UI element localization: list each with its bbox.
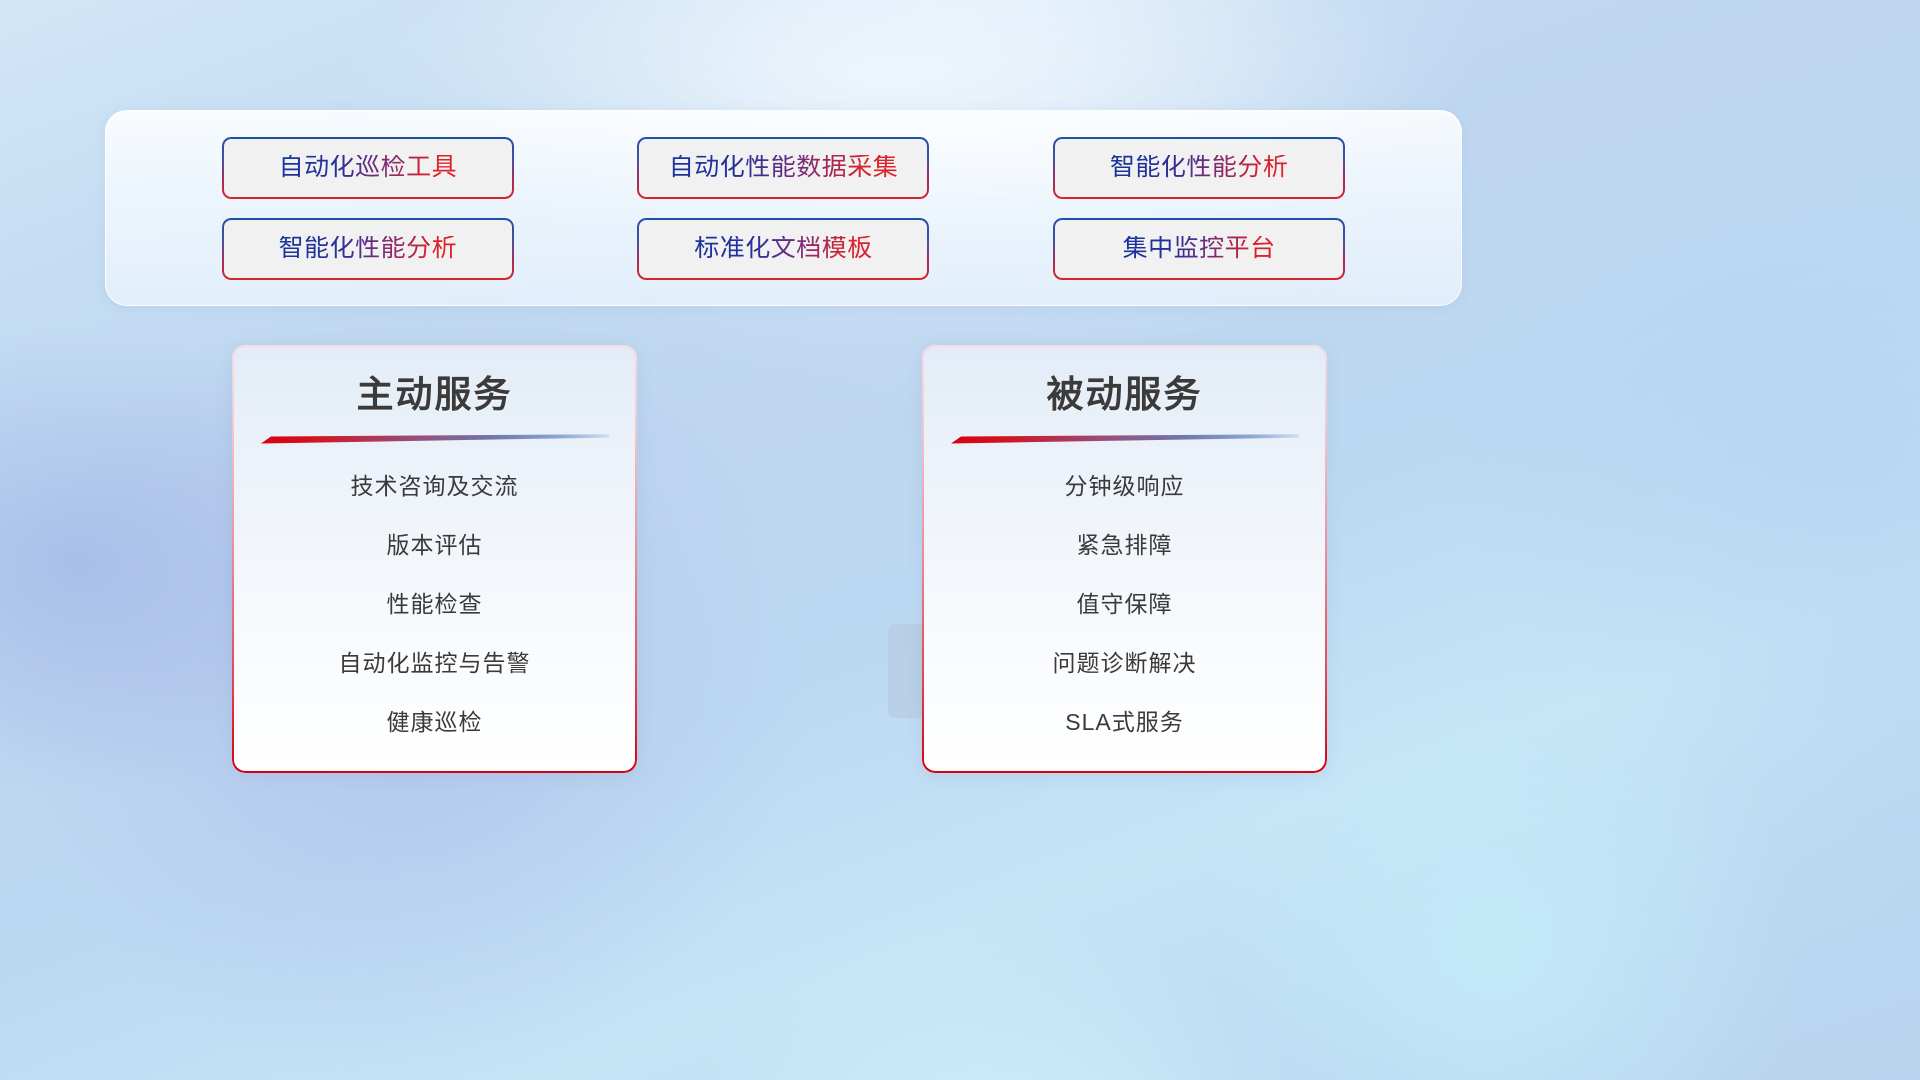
capability-pill-2[interactable]: 自动化性能数据采集 [637,137,929,199]
proactive-service-card: 主动服务 技术咨询及交流 版本评估 性能检查 自动化监控与告警 健康巡检 [232,345,637,773]
capability-pill-5[interactable]: 标准化文档模板 [637,218,929,280]
reactive-service-list: 分钟级响应 紧急排障 值守保障 问题诊断解决 SLA式服务 [922,445,1327,734]
capability-pill-4[interactable]: 智能化性能分析 [222,218,514,280]
list-item: 版本评估 [387,534,483,557]
capability-pill-3[interactable]: 智能化性能分析 [1053,137,1345,199]
title-divider [261,432,609,445]
list-item: 健康巡检 [387,711,483,734]
capability-pill-6[interactable]: 集中监控平台 [1053,218,1345,280]
title-divider [951,432,1299,445]
proactive-service-title: 主动服务 [232,345,637,418]
capability-pill-label: 自动化巡检工具 [279,155,458,180]
capability-pill-label: 自动化性能数据采集 [669,155,899,180]
reactive-service-card: 被动服务 分钟级响应 紧急排障 值守保障 问题诊断解决 SLA式服务 [922,345,1327,773]
list-item: 性能检查 [387,593,483,616]
list-item: 紧急排障 [1077,534,1173,557]
list-item: 技术咨询及交流 [351,475,519,498]
capability-pill-label: 智能化性能分析 [279,236,458,261]
list-item: SLA式服务 [1065,711,1183,734]
capability-pill-label: 智能化性能分析 [1110,155,1289,180]
capability-pill-label: 标准化文档模板 [694,236,873,261]
capability-pill-1[interactable]: 自动化巡检工具 [222,137,514,199]
proactive-service-list: 技术咨询及交流 版本评估 性能检查 自动化监控与告警 健康巡检 [232,445,637,734]
list-item: 分钟级响应 [1065,475,1185,498]
reactive-service-title: 被动服务 [922,345,1327,418]
list-item: 值守保障 [1077,593,1173,616]
capability-pill-label: 集中监控平台 [1123,236,1276,261]
list-item: 自动化监控与告警 [339,652,531,675]
list-item: 问题诊断解决 [1053,652,1197,675]
capability-panel: 自动化巡检工具 自动化性能数据采集 智能化性能分析 智能化性能分析 标准化文档模… [105,110,1462,306]
